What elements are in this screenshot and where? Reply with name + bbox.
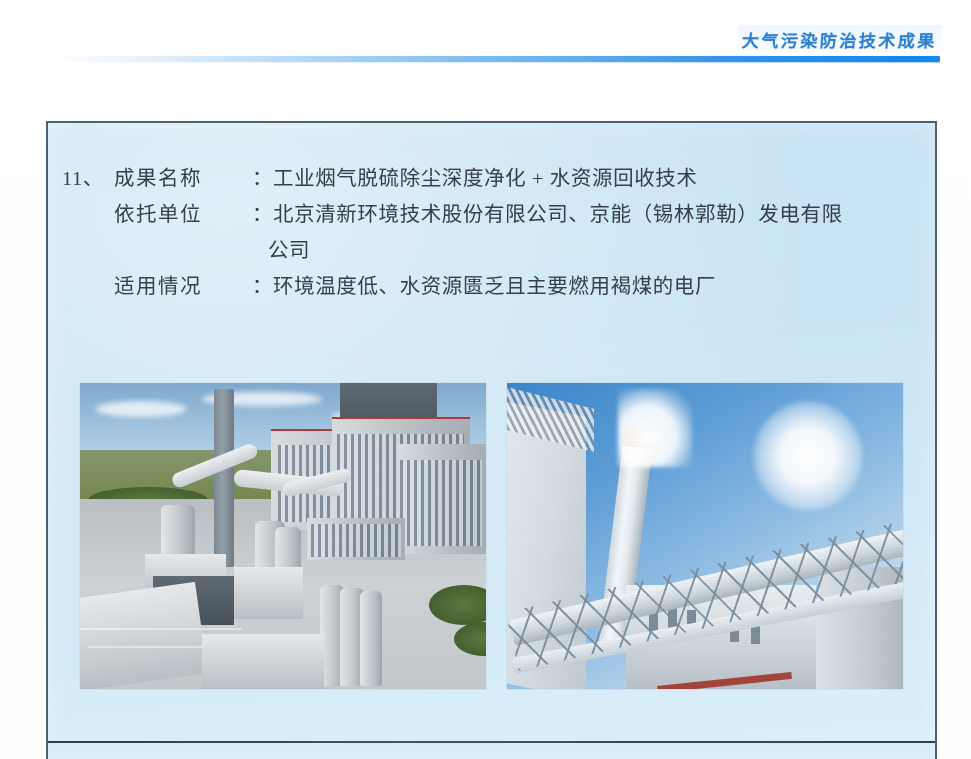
photo-plant-overview — [80, 383, 486, 689]
photo-row — [80, 383, 920, 691]
content-panel: 11、 成果名称 ： 工业烟气脱硫除尘深度净化 + 水资源回收技术 依托单位 ：… — [46, 121, 937, 759]
field-value-organization: 北京清新环境技术股份有限公司、京能（锡林郭勒）发电有限 — [273, 197, 922, 233]
steam-plume — [618, 389, 692, 467]
panel-divider — [48, 741, 935, 743]
field-value-applicability: 环境温度低、水资源匮乏且主要燃用褐煤的电厂 — [273, 269, 922, 305]
colon-applicability: ： — [252, 269, 273, 305]
header-accent-rule — [62, 56, 940, 62]
entry-line-name: 11、 成果名称 ： 工业烟气脱硫除尘深度净化 + 水资源回收技术 — [62, 161, 922, 197]
page-header: 大气污染防治技术成果 — [0, 0, 971, 70]
field-label-applicability: 适用情况 — [114, 269, 252, 305]
colon-name: ： — [252, 161, 273, 197]
result-text-block: 11、 成果名称 ： 工业烟气脱硫除尘深度净化 + 水资源回收技术 依托单位 ：… — [62, 161, 922, 305]
panel-lower-section — [48, 743, 935, 759]
field-value-name: 工业烟气脱硫除尘深度净化 + 水资源回收技术 — [273, 161, 922, 197]
entry-line-organization: 依托单位 ： 北京清新环境技术股份有限公司、京能（锡林郭勒）发电有限 — [62, 197, 922, 233]
entry-line-organization-continued: 公司 — [62, 233, 922, 269]
entry-number: 11、 — [62, 161, 114, 197]
page-title: 大气污染防治技术成果 — [737, 25, 942, 55]
field-label-organization: 依托单位 — [114, 197, 252, 233]
field-label-name: 成果名称 — [114, 161, 252, 197]
sun-glow — [753, 401, 863, 511]
entry-line-applicability: 适用情况 ： 环境温度低、水资源匮乏且主要燃用褐煤的电厂 — [62, 269, 922, 305]
colon-organization: ： — [252, 197, 273, 233]
photo-stack-closeup — [507, 383, 903, 689]
